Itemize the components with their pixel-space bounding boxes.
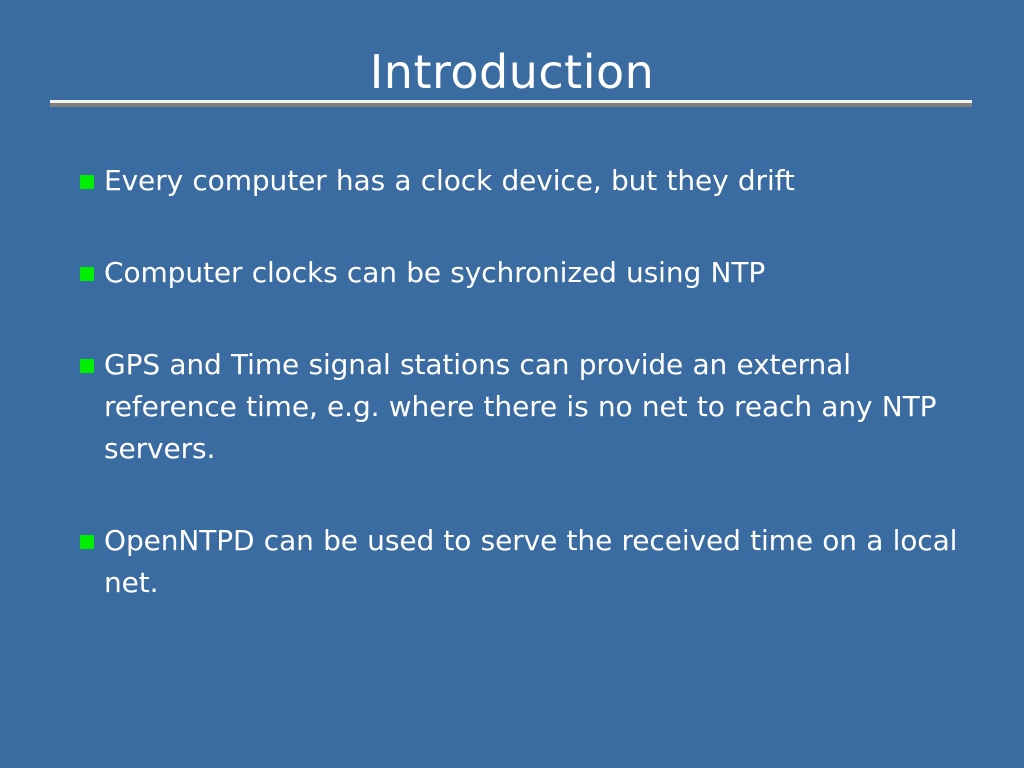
slide-title-area: Introduction (0, 46, 1024, 98)
divider-shadow-line (50, 103, 972, 107)
list-item-label: GPS and Time signal stations can provide… (104, 344, 960, 470)
presentation-slide: Introduction Every computer has a clock … (0, 0, 1024, 768)
green-square-bullet-icon (80, 267, 94, 281)
list-item-label: Every computer has a clock device, but t… (104, 160, 960, 202)
list-item: OpenNTPD can be used to serve the receiv… (80, 520, 960, 604)
list-item: Computer clocks can be sychronized using… (80, 252, 960, 294)
green-square-bullet-icon (80, 535, 94, 549)
green-square-bullet-icon (80, 175, 94, 189)
list-item: Every computer has a clock device, but t… (80, 160, 960, 202)
list-item-label: Computer clocks can be sychronized using… (104, 252, 960, 294)
list-item: GPS and Time signal stations can provide… (80, 344, 960, 470)
green-square-bullet-icon (80, 359, 94, 373)
slide-body: Every computer has a clock device, but t… (80, 160, 960, 604)
list-item-label: OpenNTPD can be used to serve the receiv… (104, 520, 960, 604)
page-title: Introduction (370, 46, 655, 98)
title-divider (50, 100, 972, 107)
